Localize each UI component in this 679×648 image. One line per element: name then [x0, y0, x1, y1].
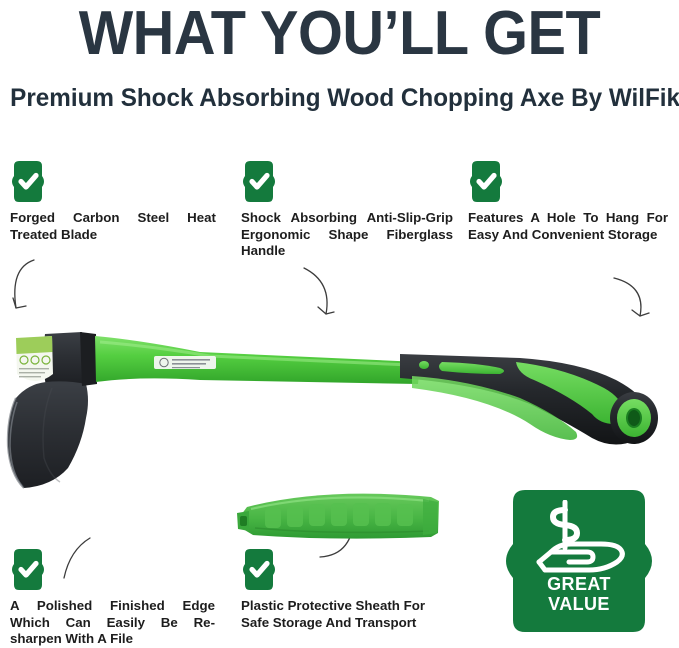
feature-shock-absorbing-handle: Shock Absorbing Anti-Slip-Grip Ergonomic… [241, 160, 453, 260]
check-badge-icon [241, 548, 277, 591]
product-image-axe [0, 318, 679, 498]
pointer-arrow-to-blade [2, 258, 52, 325]
great-value-badge: GREAT VALUE [499, 486, 659, 636]
check-badge-icon [468, 160, 504, 203]
great-value-line-2: VALUE [499, 594, 659, 615]
feature-forged-carbon-steel: Forged Carbon Steel Heat Treated Blade [10, 160, 216, 243]
feature-label: A Polished Finished Edge Which Can Easil… [10, 598, 215, 648]
feature-label: Features A Hole To Hang For Easy And Con… [468, 210, 668, 243]
feature-polished-edge: A Polished Finished Edge Which Can Easil… [10, 548, 215, 648]
feature-label: Shock Absorbing Anti-Slip-Grip Ergonomic… [241, 210, 453, 260]
hand-holding-dollar-icon [535, 500, 627, 574]
feature-hang-hole: Features A Hole To Hang For Easy And Con… [468, 160, 668, 243]
great-value-line-1: GREAT [499, 574, 659, 595]
check-badge-icon [10, 160, 46, 203]
infographic-page: WHAT YOU’LL GET Premium Shock Absorbing … [0, 0, 679, 642]
feature-label: Forged Carbon Steel Heat Treated Blade [10, 210, 216, 243]
page-title: WHAT YOU’LL GET [24, 2, 655, 66]
page-subtitle: Premium Shock Absorbing Wood Chopping Ax… [10, 84, 669, 112]
feature-protective-sheath: Plastic Protective Sheath For Safe Stora… [241, 548, 446, 631]
check-badge-icon [10, 548, 46, 591]
check-badge-icon [241, 160, 277, 203]
feature-label: Plastic Protective Sheath For Safe Stora… [241, 598, 446, 631]
product-image-sheath [225, 485, 450, 550]
